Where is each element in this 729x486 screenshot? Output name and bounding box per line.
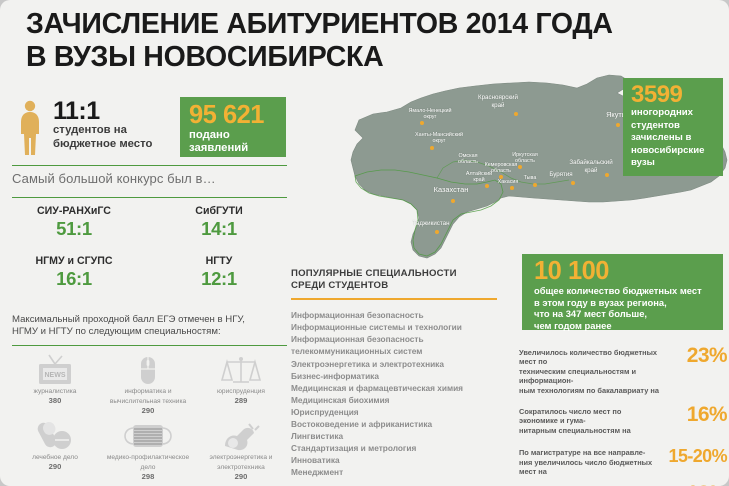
popular-specialty-item: Стандартизация и метрология bbox=[291, 442, 511, 454]
competition-item-0-value: 51:1 bbox=[14, 218, 134, 240]
budget-total-caption-3: что на 347 мест больше, bbox=[534, 308, 723, 320]
page-title: ЗАЧИСЛЕНИЕ АБИТУРИЕНТОВ 2014 ГОДА В ВУЗЫ… bbox=[26, 8, 606, 74]
statistic-row-text: Сократилось число мест по экономике и гу… bbox=[519, 404, 661, 435]
map-dot-tuva bbox=[533, 183, 537, 187]
ege-specialty-3: лечебное дело 290 bbox=[8, 418, 102, 471]
ege-note-line2: НГМУ и НГТУ по следующим специальностям: bbox=[12, 326, 284, 338]
students-per-seat-value: 11:1 bbox=[53, 98, 176, 124]
nonresident-caption-1: иногородних bbox=[631, 107, 717, 120]
map-dot-yakutia bbox=[616, 123, 620, 127]
popular-specialty-item: Медицинская биохимия bbox=[291, 394, 511, 406]
statistic-row-text: Увеличилось количество бюджетных мест по… bbox=[519, 345, 661, 395]
statistic-2-line3: мест на bbox=[519, 467, 661, 476]
ege-specialty-4-value: 298 bbox=[101, 472, 195, 481]
ege-specialty-2-name: юриспруденция bbox=[194, 388, 288, 396]
statistic-0-percent: 23% bbox=[661, 345, 729, 367]
popular-specialty-item: Инноватика bbox=[291, 454, 511, 466]
map-label-krasnoyarsk: Красноярский bbox=[465, 94, 531, 101]
ege-specialty-4-name-1: медико-профилактическое bbox=[101, 454, 195, 462]
nonresident-value: 3599 bbox=[631, 82, 717, 107]
map-label-khanty-mansi-2: округ bbox=[403, 138, 475, 144]
students-per-seat-caption-2: бюджетное место bbox=[53, 138, 176, 152]
popular-specialty-item: телекоммуникационных систем bbox=[291, 345, 511, 357]
ege-specialty-2: юриспруденция 289 bbox=[194, 352, 288, 405]
ege-specialty-2-value: 289 bbox=[194, 396, 288, 405]
popular-specialty-item: Электроэнергетика и электротехника bbox=[291, 358, 511, 370]
infographic-poster: Красноярский край Якутия Ямало-Ненецкий … bbox=[0, 0, 729, 486]
competition-item-3-value: 12:1 bbox=[159, 268, 279, 290]
ege-specialty-1-name-2: вычислительная техника bbox=[101, 398, 195, 406]
statistic-row: Увеличилось количество бюджетных мест по… bbox=[519, 345, 729, 395]
statistic-row: По магистратуре на все направле- ния уве… bbox=[519, 445, 729, 476]
popular-specialty-item: Информационная безопасность bbox=[291, 309, 511, 321]
computer-mouse-icon bbox=[101, 352, 195, 386]
map-dot-kazakhstan bbox=[451, 199, 455, 203]
map-dot-khanty-mansi bbox=[430, 146, 434, 150]
budget-total-caption-1: общее количество бюджетных мест bbox=[534, 285, 723, 297]
budget-total-caption-4: чем годом ранее bbox=[534, 320, 723, 332]
medical-mask-icon bbox=[101, 418, 195, 452]
statistic-1-line2: нитарным специальностям на bbox=[519, 426, 661, 435]
competition-item-1-name: СибГУТИ bbox=[159, 205, 279, 218]
ege-specialty-3-value: 290 bbox=[8, 462, 102, 471]
map-label-krasnoyarsk-2: край bbox=[465, 102, 531, 109]
map-label-yamalo-nenets-2: округ bbox=[397, 114, 463, 120]
ege-specialty-0-value: 380 bbox=[8, 396, 102, 405]
map-dot-krasnoyarsk bbox=[514, 112, 518, 116]
statistic-0-line1: Увеличилось количество бюджетных мест по bbox=[519, 348, 661, 367]
budget-total-value: 10 100 bbox=[534, 258, 723, 285]
popular-specialty-item: Лингвистика bbox=[291, 430, 511, 442]
map-label-tuva: Тыва bbox=[513, 175, 547, 181]
competition-item-1-value: 14:1 bbox=[159, 218, 279, 240]
divider-above-competition bbox=[12, 165, 287, 166]
popular-specialty-item: Юриспруденция bbox=[291, 406, 511, 418]
competition-item-3-name: НГТУ bbox=[159, 255, 279, 268]
statistic-row-text: По магистратуре на все направле- ния уве… bbox=[519, 445, 661, 476]
students-per-seat-block: 11:1 студентов на бюджетное место bbox=[16, 98, 176, 151]
statistic-1-percent: 16% bbox=[661, 404, 729, 426]
tv-news-icon: NEWS bbox=[8, 352, 102, 386]
ege-specialty-5-name-1: электроэнергетика и bbox=[194, 454, 288, 462]
competition-item-2: НГМУ и СГУПС 16:1 bbox=[14, 255, 134, 290]
ege-specialty-3-name: лечебное дело bbox=[8, 454, 102, 462]
svg-text:NEWS: NEWS bbox=[45, 372, 66, 379]
map-label-zabaykalsky: Забайкальский bbox=[559, 159, 623, 166]
statistic-row: Сократилось число мест по экономике и гу… bbox=[519, 404, 729, 435]
scales-icon bbox=[194, 352, 288, 386]
students-per-seat-caption-1: студентов на bbox=[53, 124, 176, 138]
popular-specialty-item: Менеджмент bbox=[291, 466, 511, 478]
divider-below-competition bbox=[12, 197, 287, 198]
ege-specialty-4-name-2: дело bbox=[101, 464, 195, 472]
nonresident-students-box: 3599 иногородних студентов зачислены в н… bbox=[623, 78, 723, 176]
competition-item-2-value: 16:1 bbox=[14, 268, 134, 290]
statistic-1-line1: Сократилось число мест по экономике и гу… bbox=[519, 407, 661, 426]
map-label-tajikistan: Таджикистан bbox=[397, 220, 465, 227]
map-dot-khakassia bbox=[510, 186, 514, 190]
pills-icon bbox=[8, 418, 102, 452]
statistic-2-percent: 15-20% bbox=[661, 445, 729, 467]
applications-box: 95 621 подано заявлений bbox=[180, 97, 286, 157]
nonresident-caption-4: новосибирские bbox=[631, 145, 717, 158]
page-title-line1: ЗАЧИСЛЕНИЕ АБИТУРИЕНТОВ 2014 ГОДА bbox=[26, 8, 606, 41]
popular-specialty-item: Медицинская и фармацевтическая химия bbox=[291, 382, 511, 394]
ege-specialty-1-value: 290 bbox=[101, 406, 195, 415]
popular-specialties-title-1: ПОПУЛЯРНЫЕ СПЕЦИАЛЬНОСТИ bbox=[291, 268, 511, 280]
competition-item-2-name: НГМУ и СГУПС bbox=[14, 255, 134, 268]
ege-specialty-0: NEWS журналистика 380 bbox=[8, 352, 102, 405]
budget-total-caption-2: в этом году в вузах региона, bbox=[534, 297, 723, 309]
power-plug-icon bbox=[194, 418, 288, 452]
applications-value: 95 621 bbox=[189, 102, 286, 129]
ege-specialty-5: электроэнергетика и электротехника 290 bbox=[194, 418, 288, 481]
ege-specialty-5-value: 290 bbox=[194, 472, 288, 481]
divider-orange bbox=[291, 298, 497, 300]
popular-specialties-block: ПОПУЛЯРНЫЕ СПЕЦИАЛЬНОСТИ СРЕДИ СТУДЕНТОВ… bbox=[291, 268, 511, 479]
popular-specialties-title-2: СРЕДИ СТУДЕНТОВ bbox=[291, 280, 511, 292]
map-label-kazakhstan: Казахстан bbox=[417, 186, 485, 194]
statistic-0-line3: ным технологиям по бакалавриату на bbox=[519, 386, 661, 395]
page-title-line2: В ВУЗЫ НОВОСИБИРСКА bbox=[26, 41, 606, 74]
divider-below-ege-note bbox=[12, 345, 287, 346]
statistics-list: Увеличилось количество бюджетных мест по… bbox=[519, 345, 729, 486]
budget-total-box: 10 100 общее количество бюджетных мест в… bbox=[522, 254, 723, 330]
nonresident-caption-2: студентов bbox=[631, 120, 717, 133]
competition-heading: Самый большой конкурс был в… bbox=[12, 171, 216, 186]
competition-item-3: НГТУ 12:1 bbox=[159, 255, 279, 290]
ege-specialty-5-name-2: электротехника bbox=[194, 464, 288, 472]
ege-specialty-4: медико-профилактическое дело 298 bbox=[101, 418, 195, 481]
ege-specialty-1: информатика и вычислительная техника 290 bbox=[101, 352, 195, 415]
competition-item-0-name: СИУ-РАНХиГС bbox=[14, 205, 134, 218]
map-dot-yamalo-nenets bbox=[420, 121, 424, 125]
map-dot-buryatia bbox=[571, 181, 575, 185]
ege-specialty-1-name-1: информатика и bbox=[101, 388, 195, 396]
person-icon bbox=[16, 100, 46, 156]
popular-specialty-item: Востоковедение и африканистика bbox=[291, 418, 511, 430]
statistic-0-line2: техническим специальностям и информацион… bbox=[519, 367, 661, 386]
applications-caption-2: заявлений bbox=[189, 142, 286, 155]
popular-specialty-item: Информационные системы и технологии bbox=[291, 321, 511, 333]
popular-specialty-item: Бизнес-информатика bbox=[291, 370, 511, 382]
popular-specialty-item: Информационная безопасность bbox=[291, 333, 511, 345]
applications-caption-1: подано bbox=[189, 129, 286, 142]
nonresident-caption-5: вузы bbox=[631, 157, 717, 170]
competition-item-1: СибГУТИ 14:1 bbox=[159, 205, 279, 240]
statistic-2-line2: ния увеличилось число бюджетных bbox=[519, 458, 661, 467]
ege-note: Максимальный проходной балл ЕГЭ отмечен … bbox=[12, 314, 284, 338]
map-dot-tajikistan bbox=[435, 230, 439, 234]
nonresident-caption-3: зачислены в bbox=[631, 132, 717, 145]
ege-specialty-0-name: журналистика bbox=[8, 388, 102, 396]
ege-note-line1: Максимальный проходной балл ЕГЭ отмечен … bbox=[12, 314, 284, 326]
map-dot-zabaykalsky bbox=[605, 173, 609, 177]
map-label-omsk-2: область bbox=[447, 159, 489, 165]
competition-item-0: СИУ-РАНХиГС 51:1 bbox=[14, 205, 134, 240]
statistic-2-line1: По магистратуре на все направле- bbox=[519, 448, 661, 457]
